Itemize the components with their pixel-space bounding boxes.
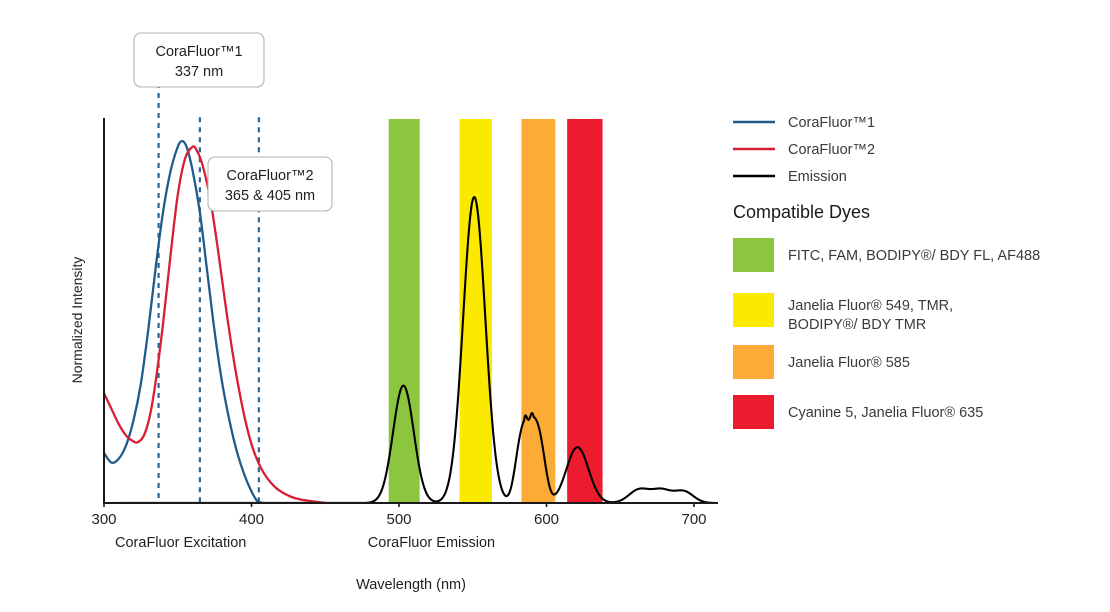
legend-dye-item: Janelia Fluor® 549, TMR,BODIPY®/ BDY TMR [733, 293, 953, 333]
legend-dye-swatch [733, 395, 774, 429]
callout-title: CoraFluor™1 [155, 44, 242, 60]
legend-dye-swatch [733, 345, 774, 379]
x-tick-label-700: 700 [681, 511, 706, 528]
x-axis-title: Wavelength (nm) [356, 577, 466, 593]
legend-group: CoraFluor™1CoraFluor™2EmissionCompatible… [733, 115, 1040, 429]
legend-series-label: Emission [788, 169, 847, 185]
legend-heading: Compatible Dyes [733, 202, 870, 222]
legend-dye-label-line2: BODIPY®/ BDY TMR [788, 317, 926, 333]
red-band [567, 119, 602, 503]
callout-title: CoraFluor™2 [226, 168, 313, 184]
legend-series-item: CoraFluor™1 [733, 115, 875, 131]
x-tick-label-600: 600 [534, 511, 559, 528]
legend-dye-label-line1: FITC, FAM, BODIPY®/ BDY FL, AF488 [788, 248, 1040, 264]
y-axis-title: Normalized Intensity [69, 257, 85, 384]
legend-dye-item: Janelia Fluor® 585 [733, 345, 910, 379]
legend-series-item: CoraFluor™2 [733, 142, 875, 158]
legend-dye-label-line1: Janelia Fluor® 549, TMR, [788, 298, 953, 314]
region-label-emission: CoraFluor Emission [368, 535, 495, 551]
callout-group: CoraFluor™1337 nmCoraFluor™2365 & 405 nm [134, 33, 332, 211]
callout-cf1: CoraFluor™1337 nm [134, 33, 264, 87]
legend-dye-item: FITC, FAM, BODIPY®/ BDY FL, AF488 [733, 238, 1040, 272]
emission-band-group [389, 119, 603, 503]
legend-dye-item: Cyanine 5, Janelia Fluor® 635 [733, 395, 983, 429]
legend-dye-label-line1: Janelia Fluor® 585 [788, 355, 910, 371]
x-tick-label-400: 400 [239, 511, 264, 528]
region-label-excitation: CoraFluor Excitation [115, 535, 246, 551]
spectra-chart: 300400500600700CoraFluor ExcitationCoraF… [0, 0, 1110, 612]
legend-series-label: CoraFluor™1 [788, 115, 875, 131]
orange-band [521, 119, 555, 503]
x-tick-label-500: 500 [386, 511, 411, 528]
legend-dye-swatch [733, 238, 774, 272]
legend-series-label: CoraFluor™2 [788, 142, 875, 158]
x-tick-label-300: 300 [91, 511, 116, 528]
spectra-figure: 300400500600700CoraFluor ExcitationCoraF… [0, 0, 1110, 612]
legend-dye-swatch [733, 293, 774, 327]
callout-cf2: CoraFluor™2365 & 405 nm [208, 157, 332, 211]
legend-dye-label-line1: Cyanine 5, Janelia Fluor® 635 [788, 405, 983, 421]
callout-value: 365 & 405 nm [225, 188, 315, 204]
legend-series-item: Emission [733, 169, 847, 185]
callout-value: 337 nm [175, 64, 223, 80]
